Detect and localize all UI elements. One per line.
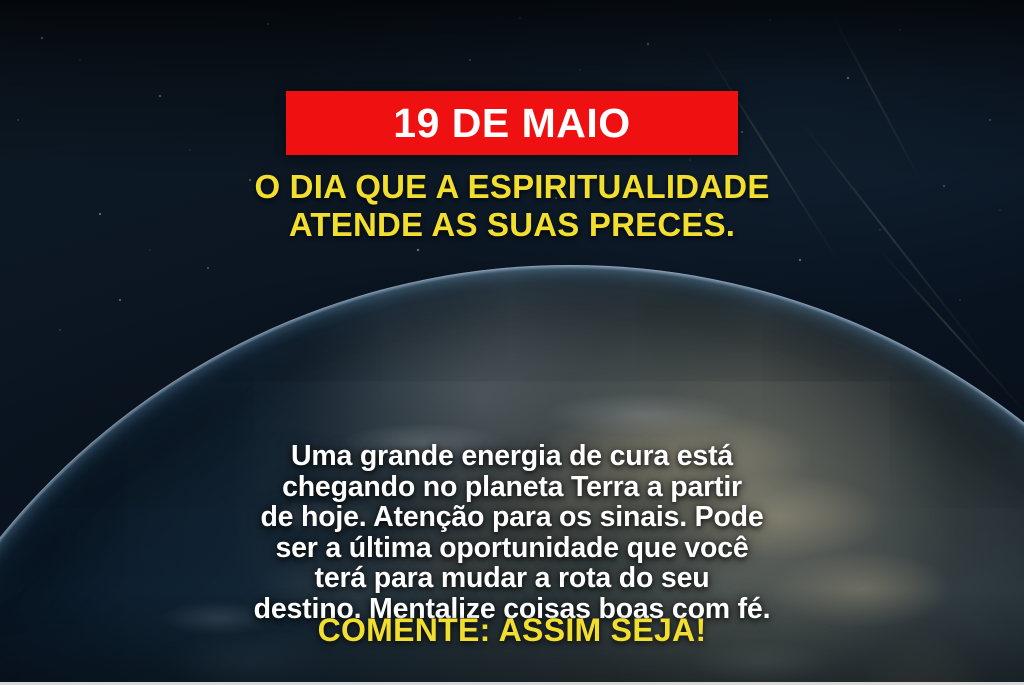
poster-content: 19 DE MAIO O DIA QUE A ESPIRITUALIDADE A…: [0, 0, 1024, 685]
headline: O DIA QUE A ESPIRITUALIDADE ATENDE AS SU…: [0, 168, 1024, 245]
body-line-5: terá para mudar a rota do seu: [0, 564, 1024, 593]
headline-line-2: ATENDE AS SUAS PRECES.: [0, 206, 1024, 244]
body-line-2: chegando no planeta Terra a partir: [0, 473, 1024, 502]
body-line-4: ser a última oportunidade que você: [0, 534, 1024, 563]
body-line-1: Uma grande energia de cura está: [0, 442, 1024, 471]
poster-image: 19 DE MAIO O DIA QUE A ESPIRITUALIDADE A…: [0, 0, 1024, 685]
date-banner-text: 19 DE MAIO: [393, 103, 630, 144]
headline-line-1: O DIA QUE A ESPIRITUALIDADE: [0, 168, 1024, 206]
date-banner: 19 DE MAIO: [286, 91, 738, 155]
call-to-action-text: COMENTE: ASSIM SEJA!: [0, 614, 1024, 646]
body-line-3: de hoje. Atenção para os sinais. Pode: [0, 503, 1024, 532]
body-paragraph: Uma grande energia de cura está chegando…: [0, 442, 1024, 625]
